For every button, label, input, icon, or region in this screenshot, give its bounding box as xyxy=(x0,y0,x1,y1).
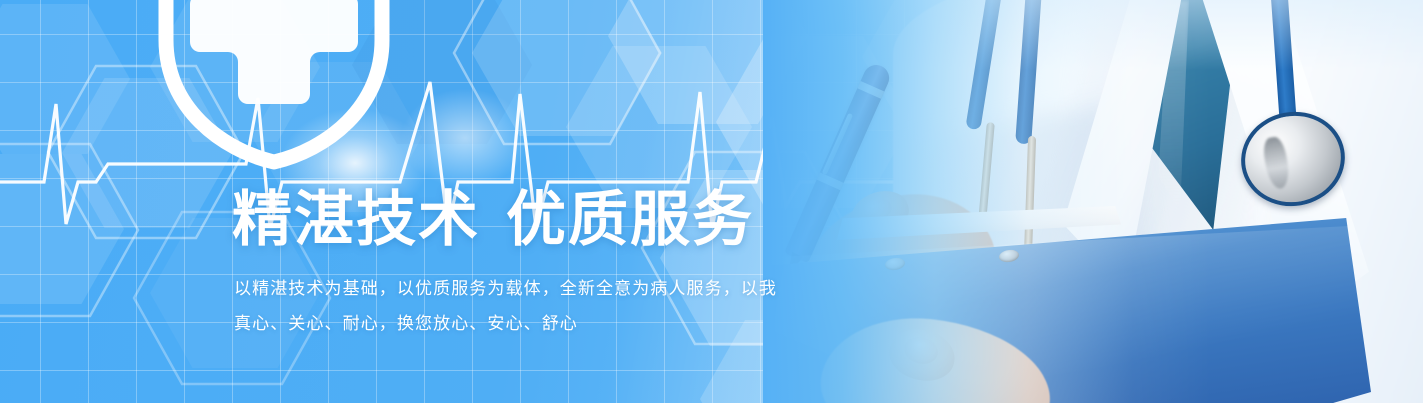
page-title: 精湛技术优质服务 xyxy=(232,190,754,250)
stethoscope-chestpiece-detail xyxy=(1261,135,1292,190)
subtitle-line-1: 以精湛技术为基础，以优质服务为载体，全新全意为病人服务，以我 xyxy=(234,280,777,297)
pen-clip xyxy=(822,113,853,175)
medical-hero-banner: 精湛技术优质服务 以精湛技术为基础，以优质服务为载体，全新全意为病人服务，以我 … xyxy=(0,0,1423,403)
headline-part-1: 精湛技术 xyxy=(232,186,480,253)
doctor-with-clipboard-photo xyxy=(763,0,1423,403)
pen-band xyxy=(857,81,884,99)
headline-part-2: 优质服务 xyxy=(506,186,754,253)
pen-band xyxy=(817,172,844,190)
thumbnail xyxy=(901,334,940,367)
subtitle-line-2: 真心、关心、耐心，换您放心、安心、舒心 xyxy=(234,315,578,332)
